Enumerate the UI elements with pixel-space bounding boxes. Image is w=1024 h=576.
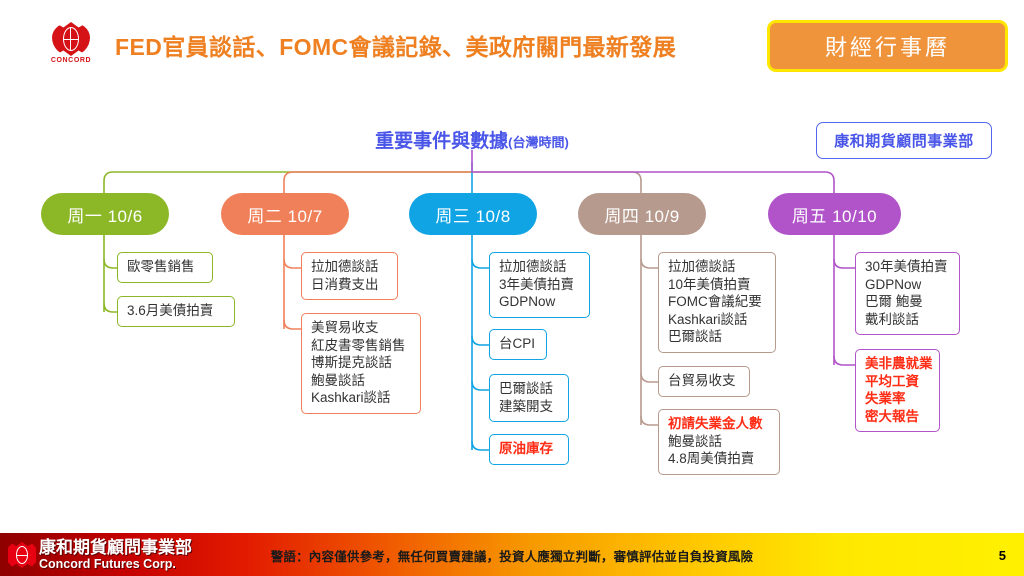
event-line: 拉加德談話	[668, 258, 766, 276]
day-pill-label: 周五 10/10	[792, 202, 877, 227]
slide-canvas: CONCORD FED官員談話、FOMC會議記錄、美政府關門最新發展 財經行事曆…	[0, 0, 1024, 576]
event-line: 平均工資	[865, 373, 930, 391]
event-box[interactable]: 拉加德談話3年美債拍賣GDPNow	[489, 252, 590, 318]
day-pill-4[interactable]: 周四 10/9	[578, 193, 706, 235]
day-pill-1[interactable]: 周一 10/6	[41, 193, 169, 235]
event-line: 日消費支出	[311, 276, 388, 294]
event-box[interactable]: 拉加德談話日消費支出	[301, 252, 398, 300]
event-line: FOMC會議紀要	[668, 293, 766, 311]
event-line: 巴爾談話	[499, 380, 559, 398]
event-box[interactable]: 原油庫存	[489, 434, 569, 465]
event-line: 拉加德談話	[499, 258, 580, 276]
day-pill-label: 周三 10/8	[435, 202, 510, 227]
event-line: 鮑曼談話	[311, 372, 411, 390]
event-line: 建築開支	[499, 398, 559, 416]
event-line: 原油庫存	[499, 440, 559, 458]
event-line: 台貿易收支	[668, 372, 740, 390]
event-line: 3年美債拍賣	[499, 276, 580, 294]
event-box[interactable]: 初請失業金人數鮑曼談話4.8周美債拍賣	[658, 409, 780, 475]
event-box[interactable]: 歐零售銷售	[117, 252, 213, 283]
day-pill-5[interactable]: 周五 10/10	[768, 193, 901, 235]
event-line: 失業率	[865, 390, 930, 408]
event-box[interactable]: 台CPI	[489, 329, 547, 360]
event-line: 10年美債拍賣	[668, 276, 766, 294]
event-line: 歐零售銷售	[127, 258, 203, 276]
event-line: 30年美債拍賣	[865, 258, 950, 276]
event-line: Kashkari談話	[311, 389, 411, 407]
event-box[interactable]: 巴爾談話建築開支	[489, 374, 569, 422]
event-line: 紅皮書零售銷售	[311, 337, 411, 355]
event-line: 3.6月美債拍賣	[127, 302, 225, 320]
event-line: 4.8周美債拍賣	[668, 450, 770, 468]
event-line: 鮑曼談話	[668, 433, 770, 451]
event-line: 拉加德談話	[311, 258, 388, 276]
event-box[interactable]: 拉加德談話10年美債拍賣FOMC會議紀要Kashkari談話巴爾談話	[658, 252, 776, 353]
event-box[interactable]: 台貿易收支	[658, 366, 750, 397]
event-line: 戴利談話	[865, 311, 950, 329]
event-line: 巴爾 鮑曼	[865, 293, 950, 311]
event-box[interactable]: 美非農就業平均工資失業率密大報告	[855, 349, 940, 432]
day-pill-2[interactable]: 周二 10/7	[221, 193, 349, 235]
event-line: 巴爾談話	[668, 328, 766, 346]
day-pill-label: 周一 10/6	[67, 202, 142, 227]
event-box[interactable]: 美貿易收支紅皮書零售銷售博斯提克談話鮑曼談話Kashkari談話	[301, 313, 421, 414]
page-number: 5	[999, 548, 1006, 563]
event-line: GDPNow	[499, 293, 580, 311]
event-line: GDPNow	[865, 276, 950, 294]
day-pill-label: 周二 10/7	[247, 202, 322, 227]
event-box[interactable]: 30年美債拍賣GDPNow巴爾 鮑曼戴利談話	[855, 252, 960, 335]
event-box[interactable]: 3.6月美債拍賣	[117, 296, 235, 327]
event-line: 密大報告	[865, 408, 930, 426]
day-pill-3[interactable]: 周三 10/8	[409, 193, 537, 235]
footer-disclaimer: 警語：內容僅供參考，無任何買賣建議，投資人應獨立判斷，審慎評估並自負投資風險	[0, 546, 1024, 565]
event-line: 初請失業金人數	[668, 415, 770, 433]
event-line: 美非農就業	[865, 355, 930, 373]
event-line: Kashkari談話	[668, 311, 766, 329]
event-line: 美貿易收支	[311, 319, 411, 337]
event-line: 台CPI	[499, 335, 537, 353]
event-line: 博斯提克談話	[311, 354, 411, 372]
day-pill-label: 周四 10/9	[604, 202, 679, 227]
